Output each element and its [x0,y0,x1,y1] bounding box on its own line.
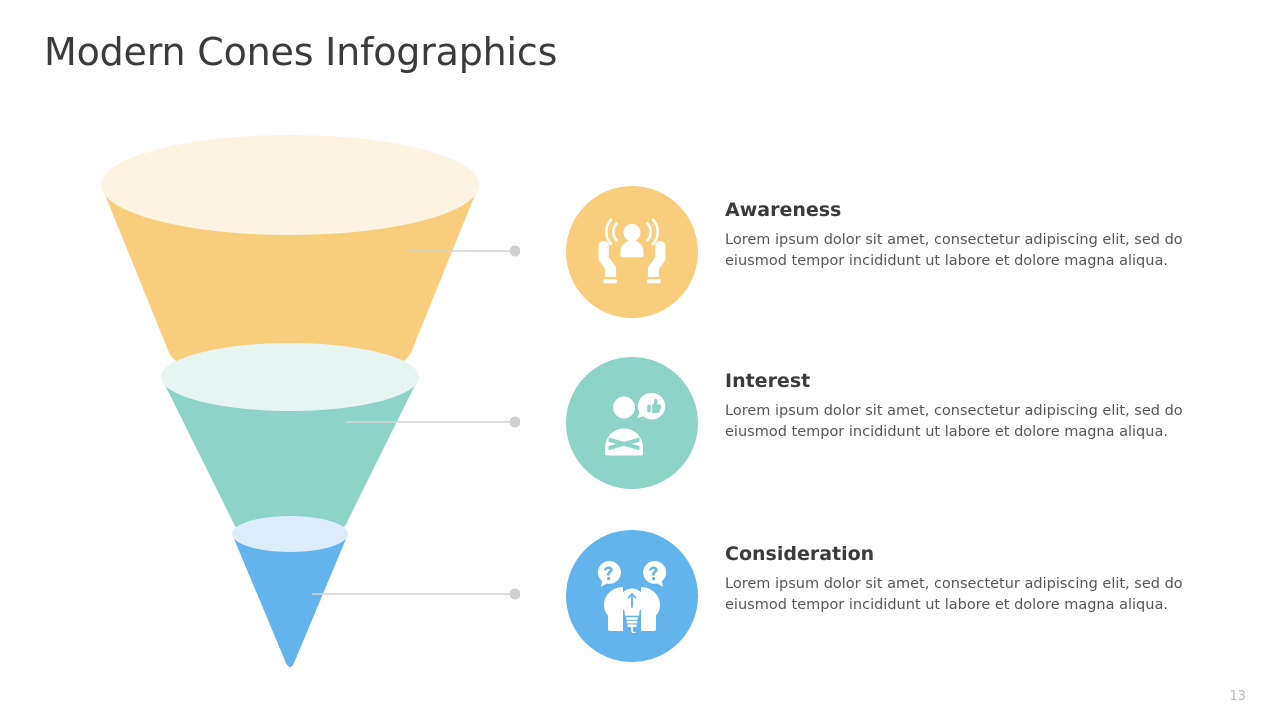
connector-dot [510,417,521,428]
consideration-icon-badge[interactable] [566,530,698,662]
stage-list: Awareness Lorem ipsum dolor sit amet, co… [566,180,1226,680]
funnel-stage-interest[interactable] [161,343,419,543]
stage-body: Lorem ipsum dolor sit amet, consectetur … [725,574,1195,616]
stage-item-interest[interactable]: Interest Lorem ipsum dolor sit amet, con… [566,357,1226,489]
funnel-diagram [60,120,520,680]
awareness-icon-badge[interactable] [566,186,698,318]
consideration-cone-body [232,534,348,667]
awareness-cone-cap [101,135,479,235]
interest-cone-cap [161,343,419,411]
person-with-thumbsup-bubble-icon [597,389,667,457]
stage-heading: Consideration [725,544,1205,565]
slide-canvas: Modern Cones Infographics [0,0,1280,720]
stage-item-awareness[interactable]: Awareness Lorem ipsum dolor sit amet, co… [566,186,1226,318]
consideration-cone-cap [232,516,348,552]
page-number: 13 [1229,689,1246,704]
stage-heading: Interest [725,371,1205,392]
stage-body: Lorem ipsum dolor sit amet, consectetur … [725,230,1195,272]
interest-text-block: Interest Lorem ipsum dolor sit amet, con… [725,371,1205,443]
two-heads-lightbulb-questions-icon [594,559,670,633]
awareness-text-block: Awareness Lorem ipsum dolor sit amet, co… [725,200,1205,272]
stage-heading: Awareness [725,200,1205,221]
page-title: Modern Cones Infographics [44,30,557,74]
connector-dot [510,246,521,257]
connector-consideration [312,589,520,600]
consideration-text-block: Consideration Lorem ipsum dolor sit amet… [725,544,1205,616]
stage-item-consideration[interactable]: Consideration Lorem ipsum dolor sit amet… [566,530,1226,662]
stage-body: Lorem ipsum dolor sit amet, consectetur … [725,401,1195,443]
funnel-stage-consideration[interactable] [232,516,348,667]
hands-holding-person-icon [596,217,668,287]
interest-icon-badge[interactable] [566,357,698,489]
connector-dot [510,589,521,600]
